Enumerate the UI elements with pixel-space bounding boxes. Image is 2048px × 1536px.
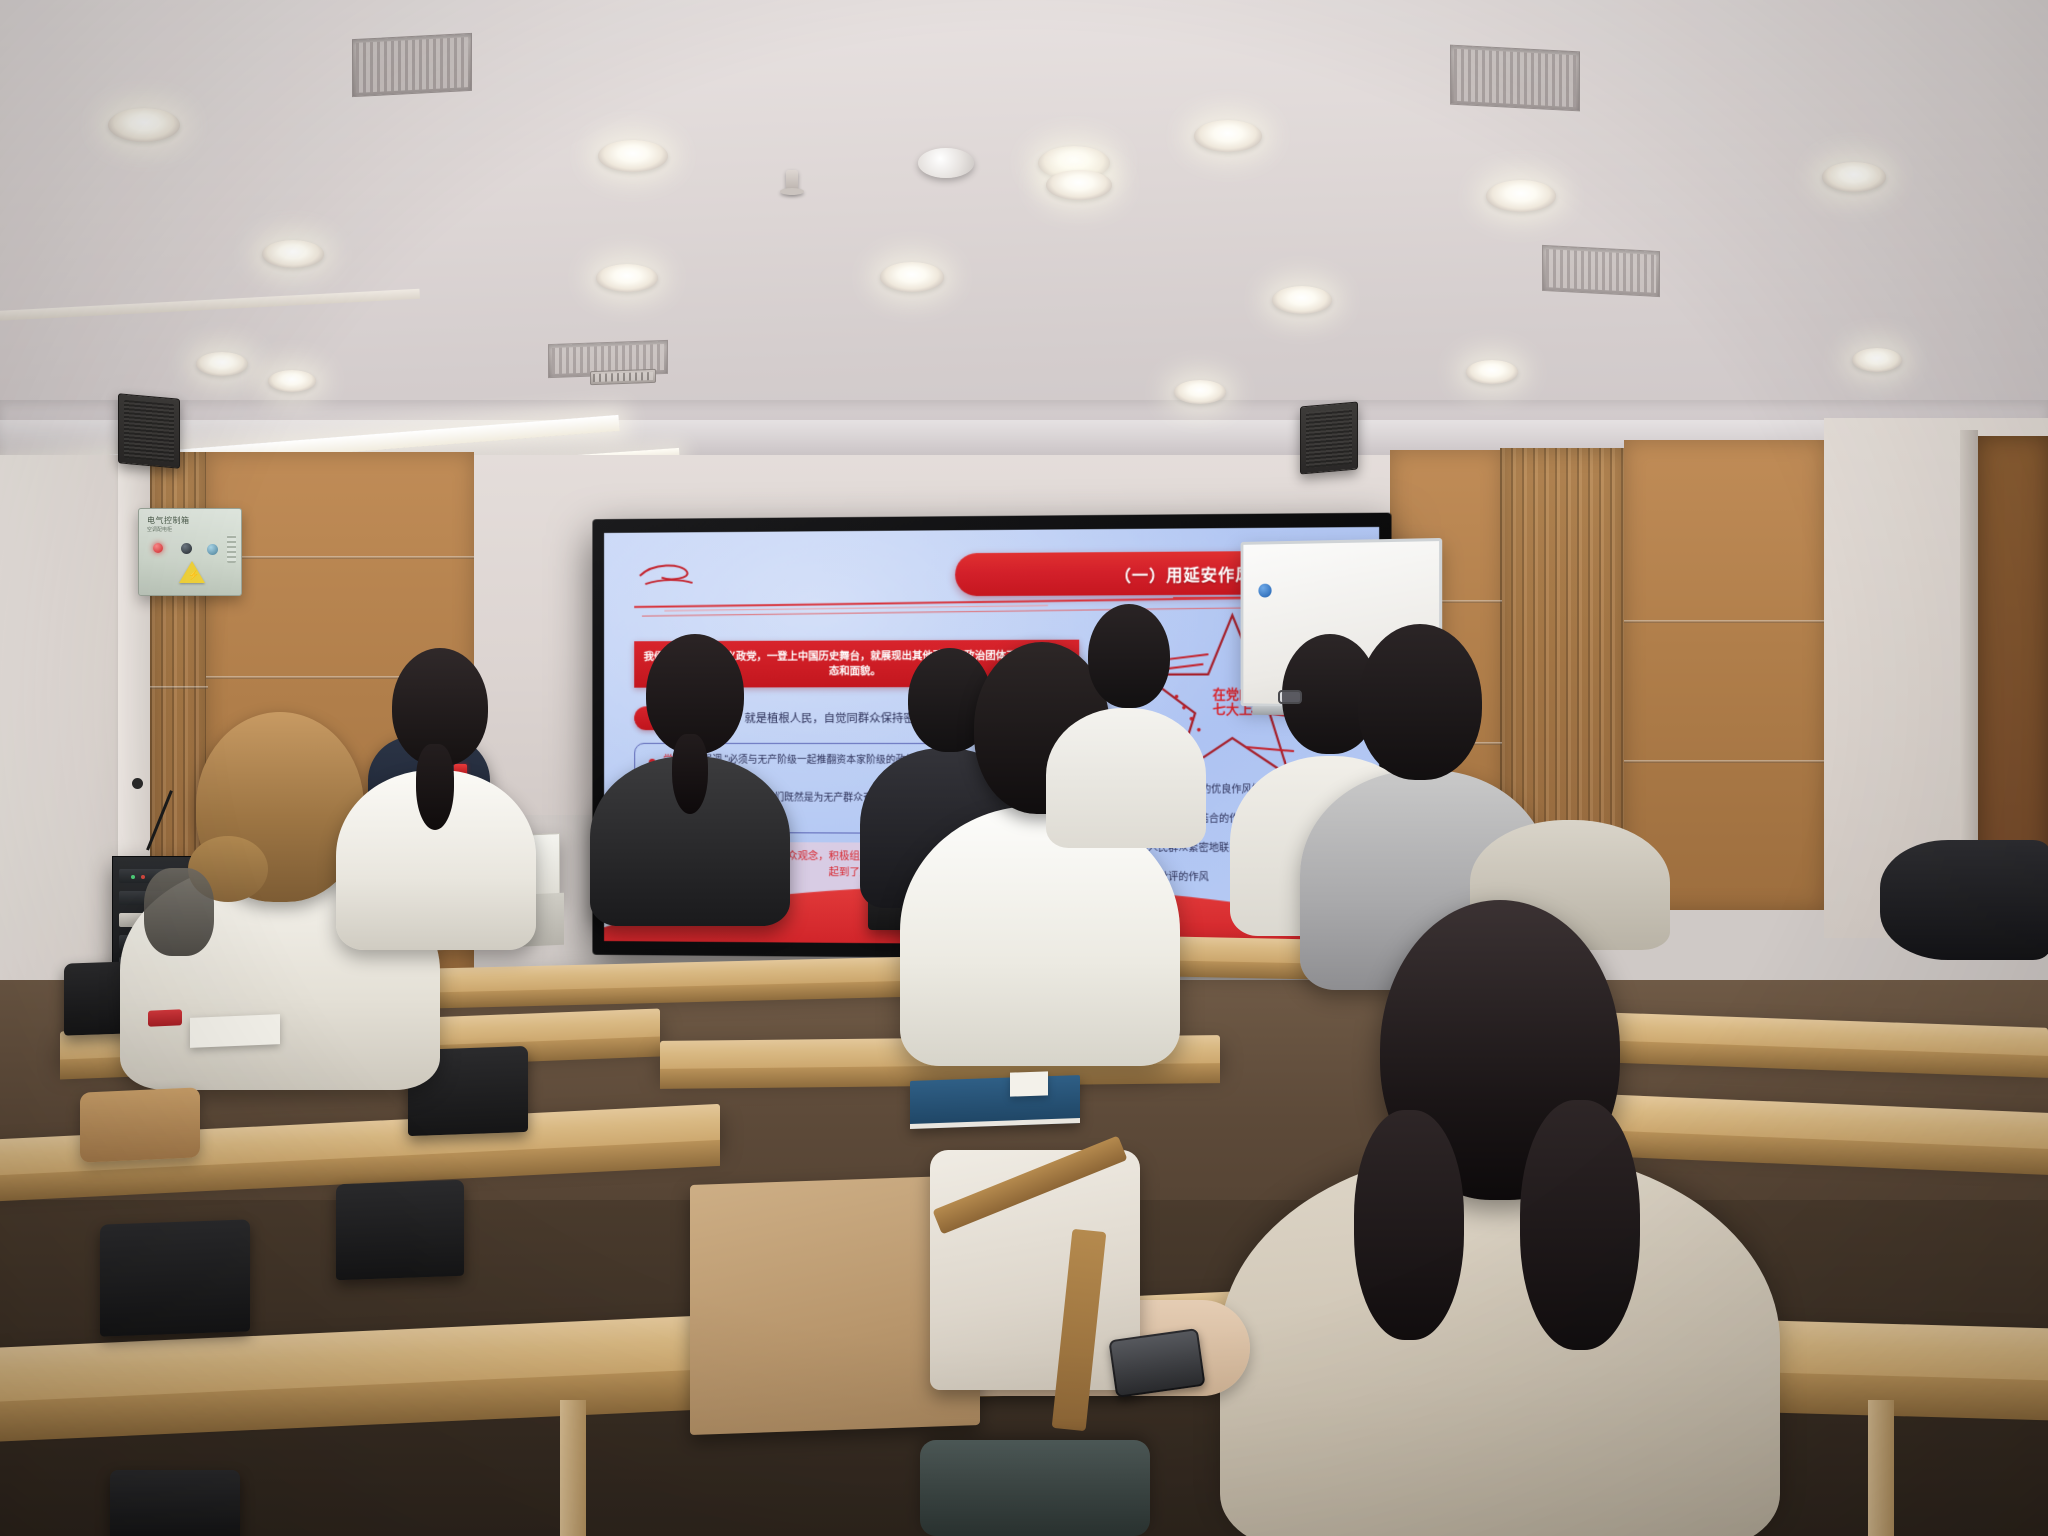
chair[interactable]	[336, 1180, 464, 1280]
tote-bag[interactable]	[80, 1087, 200, 1162]
paper-label	[1010, 1071, 1048, 1096]
hair	[1520, 1100, 1640, 1350]
downlight-icon	[1046, 170, 1112, 200]
downlight-icon	[196, 352, 248, 376]
downlight-icon	[268, 370, 316, 392]
vent-slots	[227, 535, 236, 563]
notebook[interactable]	[910, 1075, 1080, 1129]
downlight-icon	[880, 262, 944, 292]
downlight-icon	[1174, 380, 1226, 404]
audience-member	[1046, 600, 1206, 830]
audience-member	[336, 640, 536, 940]
decorative-swirl	[628, 559, 749, 597]
projector-icon	[590, 369, 656, 385]
wood-seam	[206, 556, 474, 559]
electrical-control-box[interactable]: 电气控制箱 空调配电柜	[138, 508, 242, 596]
lecture-room-photo: 电气控制箱 空调配电柜 （一）用延安作风打败西安作风	[0, 0, 2048, 1536]
indicator-lamp	[153, 543, 163, 553]
downlight-icon	[1194, 120, 1262, 152]
torso	[1220, 1150, 1780, 1536]
head	[1358, 624, 1482, 780]
downlight-icon	[1272, 286, 1332, 314]
paper-sheet	[190, 1014, 280, 1048]
ponytail	[416, 744, 454, 830]
red-object	[148, 1009, 182, 1026]
sprinkler-icon	[786, 170, 798, 192]
rotary-knob[interactable]	[207, 544, 218, 555]
rotary-knob[interactable]	[181, 543, 192, 554]
head	[1088, 604, 1170, 708]
chair[interactable]	[100, 1219, 250, 1336]
control-box-subtitle: 空调配电柜	[147, 526, 172, 533]
control-box-title: 电气控制箱	[147, 515, 190, 526]
smartphone[interactable]	[1108, 1328, 1205, 1398]
chair[interactable]	[110, 1470, 240, 1536]
torso	[1046, 708, 1206, 848]
speaker-icon	[118, 393, 180, 468]
wood-seam	[1624, 760, 1824, 763]
ceiling-vent	[1450, 45, 1580, 112]
downlight-icon	[596, 264, 658, 292]
downlight-icon	[1466, 360, 1518, 384]
speaker-icon	[1300, 401, 1358, 474]
desk-leg	[560, 1400, 586, 1536]
downlight-icon	[108, 108, 180, 142]
smoke-detector-icon	[918, 148, 974, 178]
audience-member-leg	[1880, 840, 2048, 960]
bag	[144, 868, 214, 956]
ceiling-vent	[352, 33, 472, 97]
backpack-foreground[interactable]	[920, 1440, 1150, 1536]
downlight-icon	[598, 140, 668, 172]
downlight-icon	[1852, 348, 1902, 372]
desk-leg	[1868, 1400, 1894, 1536]
magnet[interactable]	[1258, 584, 1271, 598]
glasses-icon	[1278, 690, 1302, 704]
warning-triangle-icon	[179, 561, 205, 583]
hair	[1354, 1110, 1464, 1340]
wood-seam	[1624, 620, 1824, 623]
audience-member	[590, 628, 790, 918]
ponytail	[672, 734, 708, 814]
ceiling-vent	[1542, 245, 1660, 297]
audience-member-foreground	[1220, 900, 1780, 1536]
downlight-icon	[1822, 162, 1886, 192]
downlight-icon	[262, 240, 324, 268]
wood-seam	[150, 686, 208, 689]
downlight-icon	[1486, 180, 1556, 212]
